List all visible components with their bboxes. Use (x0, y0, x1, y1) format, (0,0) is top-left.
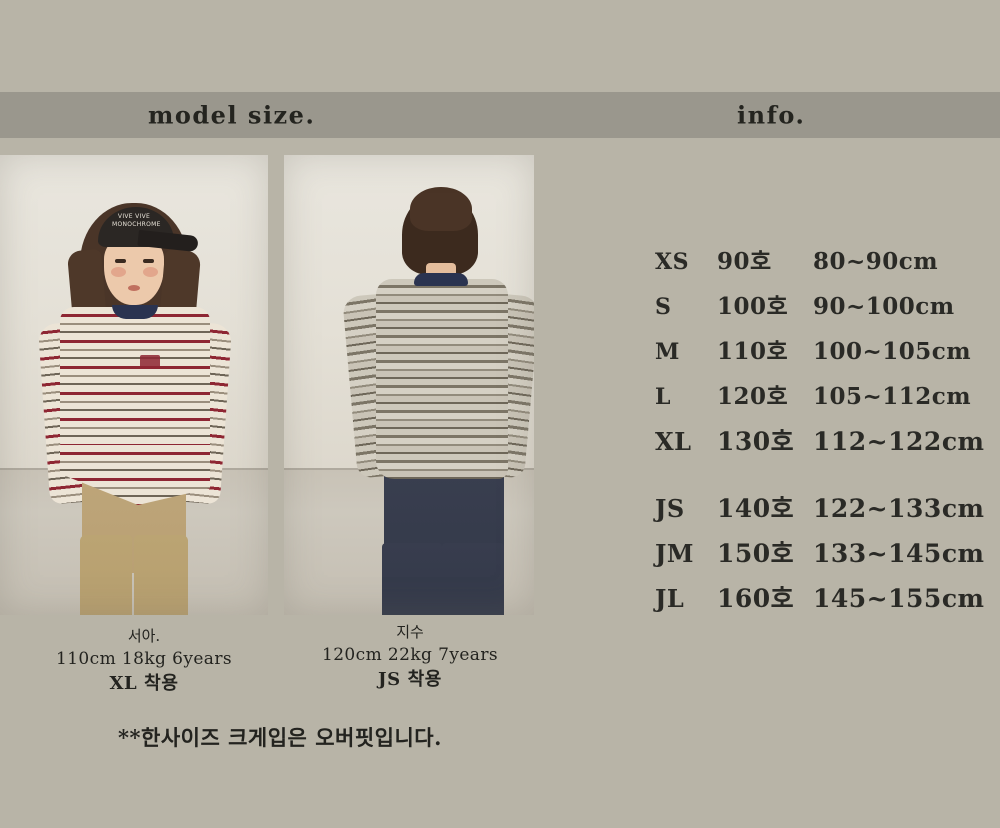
size-range: 112~122cm (813, 427, 985, 456)
size-code: S (655, 294, 717, 320)
model-chest-badge (140, 355, 160, 368)
model-jean-leg-right (442, 543, 504, 615)
size-ho: 110호 (717, 332, 813, 366)
model-jean-leg-left (382, 543, 442, 615)
size-code: JM (655, 539, 717, 568)
model-cheek-right (143, 267, 158, 277)
size-code: M (655, 339, 717, 365)
model-collar (414, 273, 468, 286)
size-group-kids: XS 90호 80~90cm S 100호 90~100cm M 110호 10… (655, 242, 985, 467)
model-hair-top (410, 187, 472, 231)
model-mouth (128, 285, 140, 291)
size-row: XL 130호 112~122cm (655, 422, 985, 467)
size-row: S 100호 90~100cm (655, 287, 985, 332)
size-code: XS (655, 249, 717, 275)
model-wearing: JS 착용 (286, 667, 534, 693)
size-row: XS 90호 80~90cm (655, 242, 985, 287)
model-striped-top (60, 307, 210, 462)
size-chart: XS 90호 80~90cm S 100호 90~100cm M 110호 10… (655, 242, 985, 624)
size-ho: 160호 (717, 579, 813, 615)
size-row: M 110호 100~105cm (655, 332, 985, 377)
size-ho: 140호 (717, 489, 813, 525)
model-striped-top (376, 279, 508, 479)
model-caption-front: 서아. 110cm 18kg 6years XL 착용 (20, 626, 268, 697)
model-cheek-left (111, 267, 126, 277)
size-group-junior: JS 140호 122~133cm JM 150호 133~145cm JL 1… (655, 489, 985, 624)
size-row: JM 150호 133~145cm (655, 534, 985, 579)
size-code: XL (655, 427, 717, 456)
size-ho: 100호 (717, 287, 813, 321)
size-ho: 120호 (717, 377, 813, 411)
size-range: 133~145cm (813, 539, 985, 568)
model-eye-right (143, 259, 154, 263)
model-pant-leg-left (80, 535, 132, 615)
model-name: 서아. (20, 626, 268, 647)
size-code: L (655, 384, 717, 410)
size-ho: 130호 (717, 422, 813, 458)
size-ho: 90호 (717, 242, 813, 276)
model-collar (112, 305, 158, 319)
info-heading: info. (737, 101, 805, 130)
size-row: JL 160호 145~155cm (655, 579, 985, 624)
size-range: 90~100cm (813, 293, 955, 320)
model-cap-logo-text: VIVE VIVE MONOCHROME (112, 213, 156, 229)
model-eye-left (115, 259, 126, 263)
size-code: JL (655, 584, 717, 613)
header-band: model size. info. (0, 92, 1000, 138)
model-photo-back (284, 155, 534, 615)
model-specs: 120cm 22kg 7years (286, 643, 534, 667)
model-pant-leg-right (134, 535, 188, 615)
fit-note: **한사이즈 크게입은 오버핏입니다. (20, 722, 540, 752)
model-name: 지수 (286, 622, 534, 643)
size-row: L 120호 105~112cm (655, 377, 985, 422)
size-range: 122~133cm (813, 494, 985, 523)
model-caption-back: 지수 120cm 22kg 7years JS 착용 (286, 622, 534, 693)
size-range: 80~90cm (813, 248, 938, 275)
model-specs: 110cm 18kg 6years (20, 647, 268, 671)
model-size-heading: model size. (148, 101, 315, 130)
model-wearing: XL 착용 (20, 671, 268, 697)
size-code: JS (655, 494, 717, 523)
size-range: 105~112cm (813, 383, 971, 410)
size-range: 145~155cm (813, 584, 985, 613)
size-row: JS 140호 122~133cm (655, 489, 985, 534)
size-range: 100~105cm (813, 338, 971, 365)
model-photo-front: VIVE VIVE MONOCHROME (0, 155, 268, 615)
size-ho: 150호 (717, 534, 813, 570)
